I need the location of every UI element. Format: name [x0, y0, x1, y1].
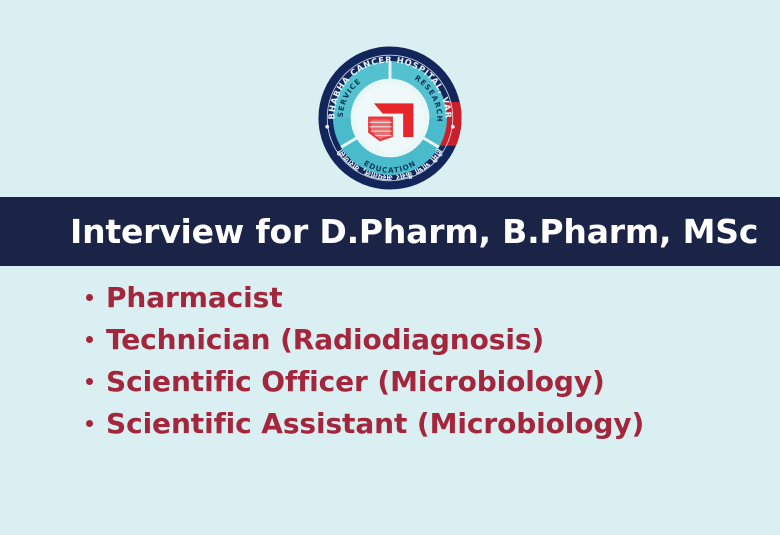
positions-list: Pharmacist Technician (Radiodiagnosis) S… — [86, 276, 644, 444]
list-item-label: Technician (Radiodiagnosis) — [106, 323, 544, 356]
poster-root: HOMI BHABHA CANCER HOSPITAL, VARANASI हो… — [0, 0, 780, 535]
list-item-label: Pharmacist — [106, 281, 282, 314]
bullet-dot-icon — [86, 294, 93, 301]
list-item: Technician (Radiodiagnosis) — [86, 318, 644, 360]
list-item-label: Scientific Officer (Microbiology) — [106, 365, 605, 398]
list-item: Scientific Officer (Microbiology) — [86, 360, 644, 402]
page-title: Interview for D.Pharm, B.Pharm, MSc — [70, 212, 758, 251]
list-item: Scientific Assistant (Microbiology) — [86, 402, 644, 444]
bullet-dot-icon — [86, 420, 93, 427]
logo-container: HOMI BHABHA CANCER HOSPITAL, VARANASI हो… — [0, 44, 780, 192]
list-item: Pharmacist — [86, 276, 644, 318]
hospital-logo-icon: HOMI BHABHA CANCER HOSPITAL, VARANASI हो… — [317, 45, 463, 191]
title-band: Interview for D.Pharm, B.Pharm, MSc — [0, 197, 780, 266]
list-item-label: Scientific Assistant (Microbiology) — [106, 407, 644, 440]
bullet-dot-icon — [86, 336, 93, 343]
bullet-dot-icon — [86, 378, 93, 385]
